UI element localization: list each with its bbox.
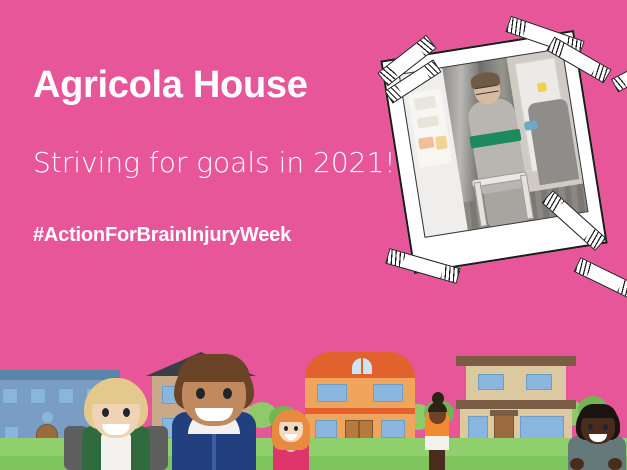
tape-strip-bottom-right-2 <box>574 257 627 299</box>
person-orange-top <box>418 388 456 470</box>
person-navy-hoodie <box>166 350 262 470</box>
page-title: Agricola House <box>33 66 393 106</box>
photo-collage <box>378 22 627 322</box>
house-orange <box>305 352 415 448</box>
headline-block: Agricola House Striving for goals in 202… <box>33 66 393 106</box>
subtitle-text: Striving for goals in 2021! <box>33 146 396 179</box>
person-red-jacket-girl <box>268 406 314 470</box>
tape-strip-far-right <box>611 59 627 93</box>
campaign-poster: Agricola House Striving for goals in 202… <box>0 0 627 470</box>
campaign-hashtag: #ActionForBrainInjuryWeek <box>33 224 291 247</box>
person-wheelchair-blond <box>68 374 164 470</box>
person-grey-top <box>568 398 627 470</box>
house-beige <box>460 356 572 448</box>
illustration-band <box>0 352 627 470</box>
